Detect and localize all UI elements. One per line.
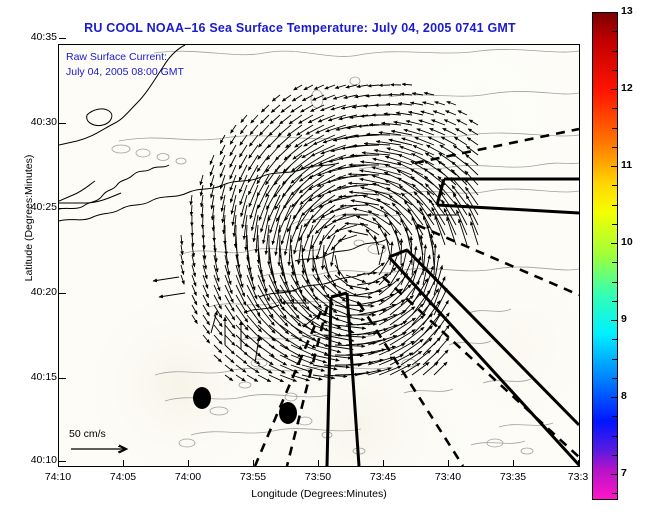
current-vector-arrow [307,215,324,238]
y-tick-mark [59,123,66,124]
current-vector-arrow [456,128,468,135]
colorbar-minor-tick [612,12,617,13]
x-tick-mark [383,460,384,467]
colorbar-minor-tick [612,185,617,186]
current-vector-arrow [220,165,225,177]
current-vector-arrow [431,120,445,125]
colorbar-tick-label: 8 [621,390,627,402]
current-vector-arrow [192,275,196,286]
current-vector-arrow [220,155,225,166]
current-vector-arrow [220,145,225,155]
current-vector-arrow [252,205,258,231]
current-vector-arrow [258,185,269,209]
current-vector-arrow [283,185,302,209]
current-vector-arrow [275,185,291,210]
current-vector-arrow [297,125,314,135]
colorbar-minor-tick [612,455,617,456]
current-vector-arrow [225,305,235,320]
current-vector-arrow [247,345,261,356]
current-vector-arrow [399,185,423,205]
current-vector-arrow [274,155,291,173]
current-vector-arrow [236,345,248,355]
current-vector-arrow [372,175,401,185]
current-vector-arrow [214,335,222,344]
x-tick-mark [253,460,254,467]
x-tick-mark [578,460,579,467]
current-vector-arrow [261,205,269,232]
current-vector-arrow [249,145,258,158]
x-tick-mark [448,460,449,467]
current-vector-arrow [398,155,423,166]
current-vector-arrow [220,135,225,144]
current-vector-arrow [367,134,390,135]
current-vector-arrow [181,265,184,275]
colorbar-minor-tick [612,128,617,129]
current-vector-arrow [225,345,235,354]
colorbar-minor-tick [612,31,617,32]
current-vector-arrow [251,115,258,123]
current-vector-arrow [230,145,236,156]
current-vector-arrow [384,164,412,175]
current-vector-arrow [400,94,412,95]
current-vector-arrow [230,155,236,168]
current-vector-arrow [192,285,196,296]
x-tick-label: 74:05 [93,471,153,483]
current-vector-arrow [247,315,262,332]
colorbar-minor-tick [612,493,617,494]
x-tick-label: 73:45 [353,471,413,483]
current-vector-arrow [239,145,247,157]
current-vector-arrow [250,195,258,219]
current-vector-arrow [210,165,214,176]
x-tick-label: 73:50 [288,471,348,483]
current-vector-arrow [270,115,280,124]
y-axis-label: Latitude (Degrees:Minutes) [23,118,35,318]
current-vector-arrow [424,168,445,185]
current-vector-arrow [431,234,434,265]
current-vector-arrow [433,111,445,115]
current-vector-arrow [314,85,324,89]
current-vector-arrow [349,192,379,195]
current-vector-arrow [225,355,234,363]
current-vector-arrow [248,175,258,195]
current-vector-arrow [444,120,456,125]
current-vector-arrow [313,255,319,281]
map-plot-area[interactable]: Raw Surface Current: July 04, 2005 08:00… [58,44,580,467]
current-vector-arrow [400,146,423,155]
colorbar-minor-tick [612,147,617,148]
current-vector-arrow [413,145,434,155]
current-vector-arrow [280,115,292,124]
x-axis-label: Longitude (Degrees:Minutes) [58,488,580,500]
colorbar-minor-tick [612,108,617,109]
current-vector-arrow [274,165,291,185]
current-vector-arrow [294,225,302,254]
current-vector-arrow [457,120,467,125]
current-vector-arrow [192,295,197,305]
current-vector-arrow [335,85,346,88]
x-tick-label: 73:55 [223,471,283,483]
current-vector-arrow [281,215,291,245]
colorbar-minor-tick [612,224,617,225]
current-vector-arrow [311,225,324,249]
current-vector-arrow [325,85,335,89]
current-vector-arrow [372,167,401,175]
colorbar-minor-tick [612,282,617,283]
current-vector-arrow [411,169,435,185]
y-tick-mark [59,293,66,294]
colorbar-tick-label: 7 [621,467,627,479]
colorbar-minor-tick [612,243,617,244]
current-vector-arrow [454,137,467,145]
current-vector-arrow [260,115,269,124]
current-vector-arrow [421,111,434,115]
current-vector-arrow [435,102,445,105]
current-vector-arrow [357,310,386,315]
x-tick-label: 74:00 [158,471,218,483]
current-vector-arrow [338,235,357,241]
x-tick-mark [188,460,189,467]
current-vector-arrow [421,235,423,265]
temperature-colorbar[interactable] [592,12,618,500]
current-vector-arrow [272,95,280,101]
colorbar-minor-tick [612,70,617,71]
current-vector-arrow [294,85,302,90]
current-vector-arrow [247,355,260,364]
colorbar-minor-tick [612,262,617,263]
current-vector-arrow [181,235,182,245]
current-vector-arrow [346,85,357,88]
current-vector-arrow [192,305,197,314]
current-vector-arrow [236,375,245,381]
y-tick-label: 40:15 [1,371,57,383]
current-vector-arrow [266,175,280,197]
current-vector-arrow [181,245,183,255]
current-vector-arrow [191,205,192,216]
current-vector-arrow [181,255,183,265]
current-vector-arrow [279,235,280,266]
current-vector-arrow [269,265,279,294]
current-vector-arrow [410,103,423,105]
colorbar-minor-tick [612,320,617,321]
scale-legend-arrow [69,442,135,456]
x-tick-mark [513,460,514,467]
x-tick-mark [318,460,319,467]
current-vector-arrow [231,125,237,133]
current-vector-arrow [292,95,302,101]
current-vector-arrow [283,155,302,172]
figure-title: RU COOL NOAA–16 Sea Surface Temperature:… [0,21,600,35]
current-vector-arrow [203,315,210,325]
current-vector-arrow [316,235,324,259]
current-vector-arrow [203,325,210,334]
current-vector-arrow [346,295,372,298]
current-vector-arrow [293,195,313,219]
current-vector-arrow [291,345,315,356]
current-vector-arrow [181,275,184,284]
current-vector-arrow [249,185,258,207]
colorbar-minor-tick [612,339,617,340]
colorbar-minor-tick [612,166,617,167]
sst-current-figure: RU COOL NOAA–16 Sea Surface Temperature:… [0,0,651,515]
x-tick-label: 73:35 [483,471,543,483]
current-vector-arrow [214,275,220,291]
current-vector-arrow [357,273,377,275]
current-vector-arrow [225,335,235,346]
current-vector-arrow [259,125,269,135]
current-vector-arrow [200,175,203,185]
current-vector-arrow [355,135,379,136]
colorbar-minor-tick [612,205,617,206]
current-vector-arrow [214,355,222,362]
current-vector-arrow [434,338,449,356]
y-tick-label: 40:10 [1,454,57,466]
current-vector-arrow [304,85,313,90]
x-tick-label: 74:10 [28,471,88,483]
current-vector-arrow [240,125,247,134]
current-vector-arrow [424,93,434,95]
annotation-line-1: Raw Surface Current: [66,51,167,63]
annotation-line-2: July 04, 2005 08:00 GMT [66,66,184,78]
current-vector-arrow [368,284,391,295]
current-vector-arrow [350,155,379,156]
current-vector-arrow [466,154,478,165]
colorbar-minor-tick [612,89,617,90]
current-vector-arrow [368,85,379,86]
colorbar-minor-tick [612,397,617,398]
current-vector-arrow [302,345,328,355]
colorbar-tick-label: 10 [621,236,633,248]
current-vector-arrow [452,154,467,165]
map-vector-overlay [59,45,579,466]
current-vector-arrow [346,285,369,290]
current-vector-arrow [259,135,270,147]
current-vector-arrow [348,174,379,175]
current-vector-arrow [250,125,258,135]
current-vector-arrow [423,313,441,335]
current-vector-arrow [401,239,402,265]
y-tick-label: 40:35 [1,31,57,43]
current-vector-arrow [269,125,280,136]
current-vector-arrow [210,155,214,165]
coastline [59,45,387,313]
current-vector-arrow [467,138,478,146]
current-vector-arrow [443,128,456,135]
current-vector-arrow [295,135,313,147]
current-vector-arrow [241,115,247,123]
colorbar-tick-label: 12 [621,82,633,94]
y-tick-mark [59,378,66,379]
current-vector-arrow [389,95,401,96]
current-vector-arrow [203,335,210,343]
current-vector-arrow [340,205,368,206]
current-vector-arrow [281,105,291,113]
current-vector-arrow [465,187,478,205]
current-vector-arrow [247,375,258,382]
current-vector-arrow [447,102,456,106]
current-vector-arrow [271,105,280,113]
colorbar-minor-tick [612,416,617,417]
current-vector-arrow [445,111,456,115]
current-vector-arrow [214,285,221,300]
current-vector-arrow [412,279,428,306]
current-vector-arrow [280,265,290,294]
current-vector-arrow [268,135,280,148]
colorbar-minor-tick [612,474,617,475]
current-vector-arrow [402,84,412,85]
current-vector-arrow [240,135,247,145]
colorbar-tick-label: 13 [621,5,633,17]
current-vector-arrow [466,146,478,155]
colorbar-minor-tick [612,378,617,379]
current-vector-arrow [434,244,435,275]
current-vector-arrow [346,305,374,306]
current-vector-arrow [211,175,215,187]
x-tick-mark [123,460,124,467]
y-tick-mark [59,208,66,209]
current-vector-arrow [458,111,467,115]
colorbar-minor-tick [612,301,617,302]
current-vector-arrow [348,231,368,235]
current-vector-arrow [236,355,247,364]
current-vector-arrow [249,135,258,146]
current-vector-arrow [379,245,384,265]
current-vector-arrow [214,325,222,336]
current-vector-arrow [225,295,234,312]
y-tick-mark [59,461,66,462]
current-vector-arrow [387,148,412,155]
current-vector-arrow [236,305,248,322]
colorbar-minor-tick [612,359,617,360]
current-vector-arrow [306,125,324,134]
colorbar-minor-tick [612,436,617,437]
current-vector-arrow [357,85,368,87]
current-vector-arrow [225,375,233,381]
current-vector-arrow [385,156,412,165]
current-vector-arrow [335,225,357,231]
current-vector-arrow [375,236,379,256]
current-vector-arrow [201,185,203,196]
current-vector-arrow [453,145,467,155]
current-vector-arrow [214,345,222,353]
current-vector-arrow [291,105,302,112]
colorbar-tick-label: 9 [621,313,627,325]
x-tick-label: 73:40 [418,471,478,483]
current-vector-arrow [318,115,335,122]
current-vector-arrow [192,315,197,324]
scale-legend-label: 50 cm/s [69,428,135,440]
current-vector-arrow [258,375,271,382]
current-vector-arrow [435,216,445,245]
current-vector-arrow [412,362,429,375]
colorbar-minor-tick [612,51,617,52]
current-vector-arrow [422,102,434,105]
current-vector-arrow [191,195,192,205]
current-vector-arrow [282,165,302,185]
current-vector-arrow [327,175,357,182]
current-vector-arrow [469,120,478,125]
current-vector-arrow [312,95,324,100]
current-vector-arrow [261,105,269,112]
current-vector-arrow [236,315,248,330]
current-vector-arrow [282,95,291,101]
current-vector-arrow [373,159,401,165]
colorbar-tick-label: 11 [621,159,632,171]
scale-legend: 50 cm/s [69,428,135,461]
y-tick-mark [59,38,66,39]
